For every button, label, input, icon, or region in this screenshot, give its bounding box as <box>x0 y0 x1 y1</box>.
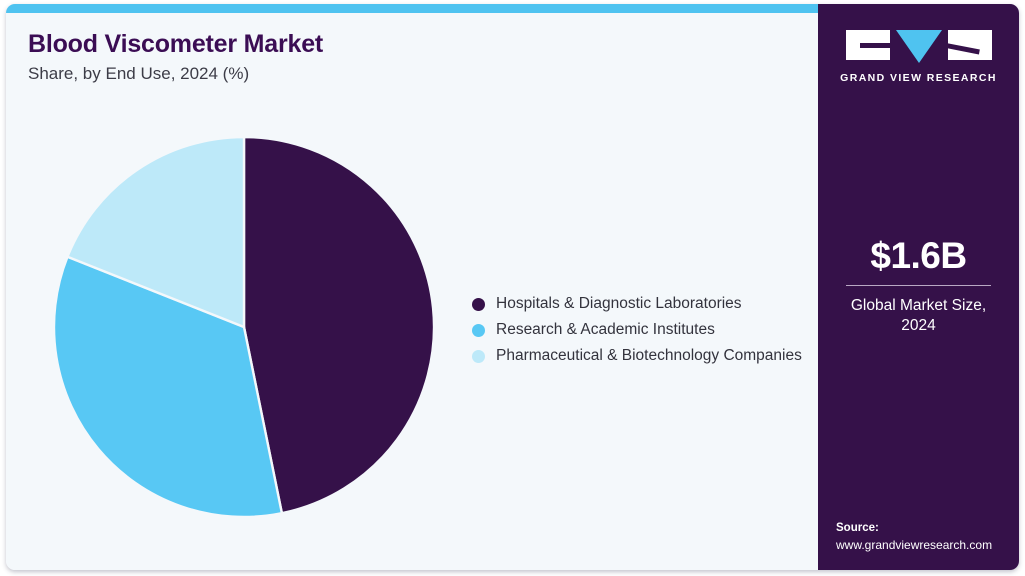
brand-name: GRAND VIEW RESEARCH <box>818 72 1019 84</box>
legend-item-label: Pharmaceutical & Biotechnology Companies <box>496 346 802 365</box>
page-title: Blood Viscometer Market <box>28 30 728 59</box>
legend-item-pharmaceutical-biotechnology-companies[interactable]: Pharmaceutical & Biotechnology Companies <box>472 346 802 365</box>
legend-item-label: Hospitals & Diagnostic Laboratories <box>496 294 742 313</box>
infographic-root: Blood Viscometer Market Share, by End Us… <box>0 0 1025 576</box>
source-url[interactable]: www.grandviewresearch.com <box>836 537 1019 553</box>
pie-slice[interactable] <box>244 137 434 513</box>
chart-main-area: Blood Viscometer Market Share, by End Us… <box>6 13 818 570</box>
source-block: Source: www.grandviewresearch.com <box>836 520 1019 553</box>
legend-item-research-academic-institutes[interactable]: Research & Academic Institutes <box>472 320 802 339</box>
chart-legend: Hospitals & Diagnostic Laboratories Rese… <box>472 294 802 373</box>
source-label: Source: <box>836 520 1019 537</box>
top-accent-bar <box>6 4 818 13</box>
market-size-caption: Global Market Size, 2024 <box>818 296 1019 336</box>
pie-chart-svg <box>49 134 439 524</box>
logo-letter-g-icon <box>846 30 890 60</box>
legend-swatch-icon <box>472 350 485 363</box>
market-size-stat: $1.6B Global Market Size, 2024 <box>818 237 1019 336</box>
logo-letter-r-icon <box>948 30 992 60</box>
market-size-value: $1.6B <box>818 237 1019 274</box>
legend-item-label: Research & Academic Institutes <box>496 320 715 339</box>
legend-swatch-icon <box>472 324 485 337</box>
brand-side-panel: GRAND VIEW RESEARCH $1.6B Global Market … <box>818 4 1019 570</box>
brand-logo: GRAND VIEW RESEARCH <box>818 30 1019 84</box>
logo-marks <box>818 30 1019 63</box>
infographic-card: Blood Viscometer Market Share, by End Us… <box>6 4 1019 570</box>
legend-item-hospitals-diagnostic-laboratories[interactable]: Hospitals & Diagnostic Laboratories <box>472 294 802 313</box>
pie-chart <box>49 134 439 524</box>
legend-swatch-icon <box>472 298 485 311</box>
page-subtitle: Share, by End Use, 2024 (%) <box>28 64 728 84</box>
logo-letter-v-triangle-icon <box>896 30 942 63</box>
stat-divider <box>846 285 991 286</box>
title-block: Blood Viscometer Market Share, by End Us… <box>28 30 728 84</box>
